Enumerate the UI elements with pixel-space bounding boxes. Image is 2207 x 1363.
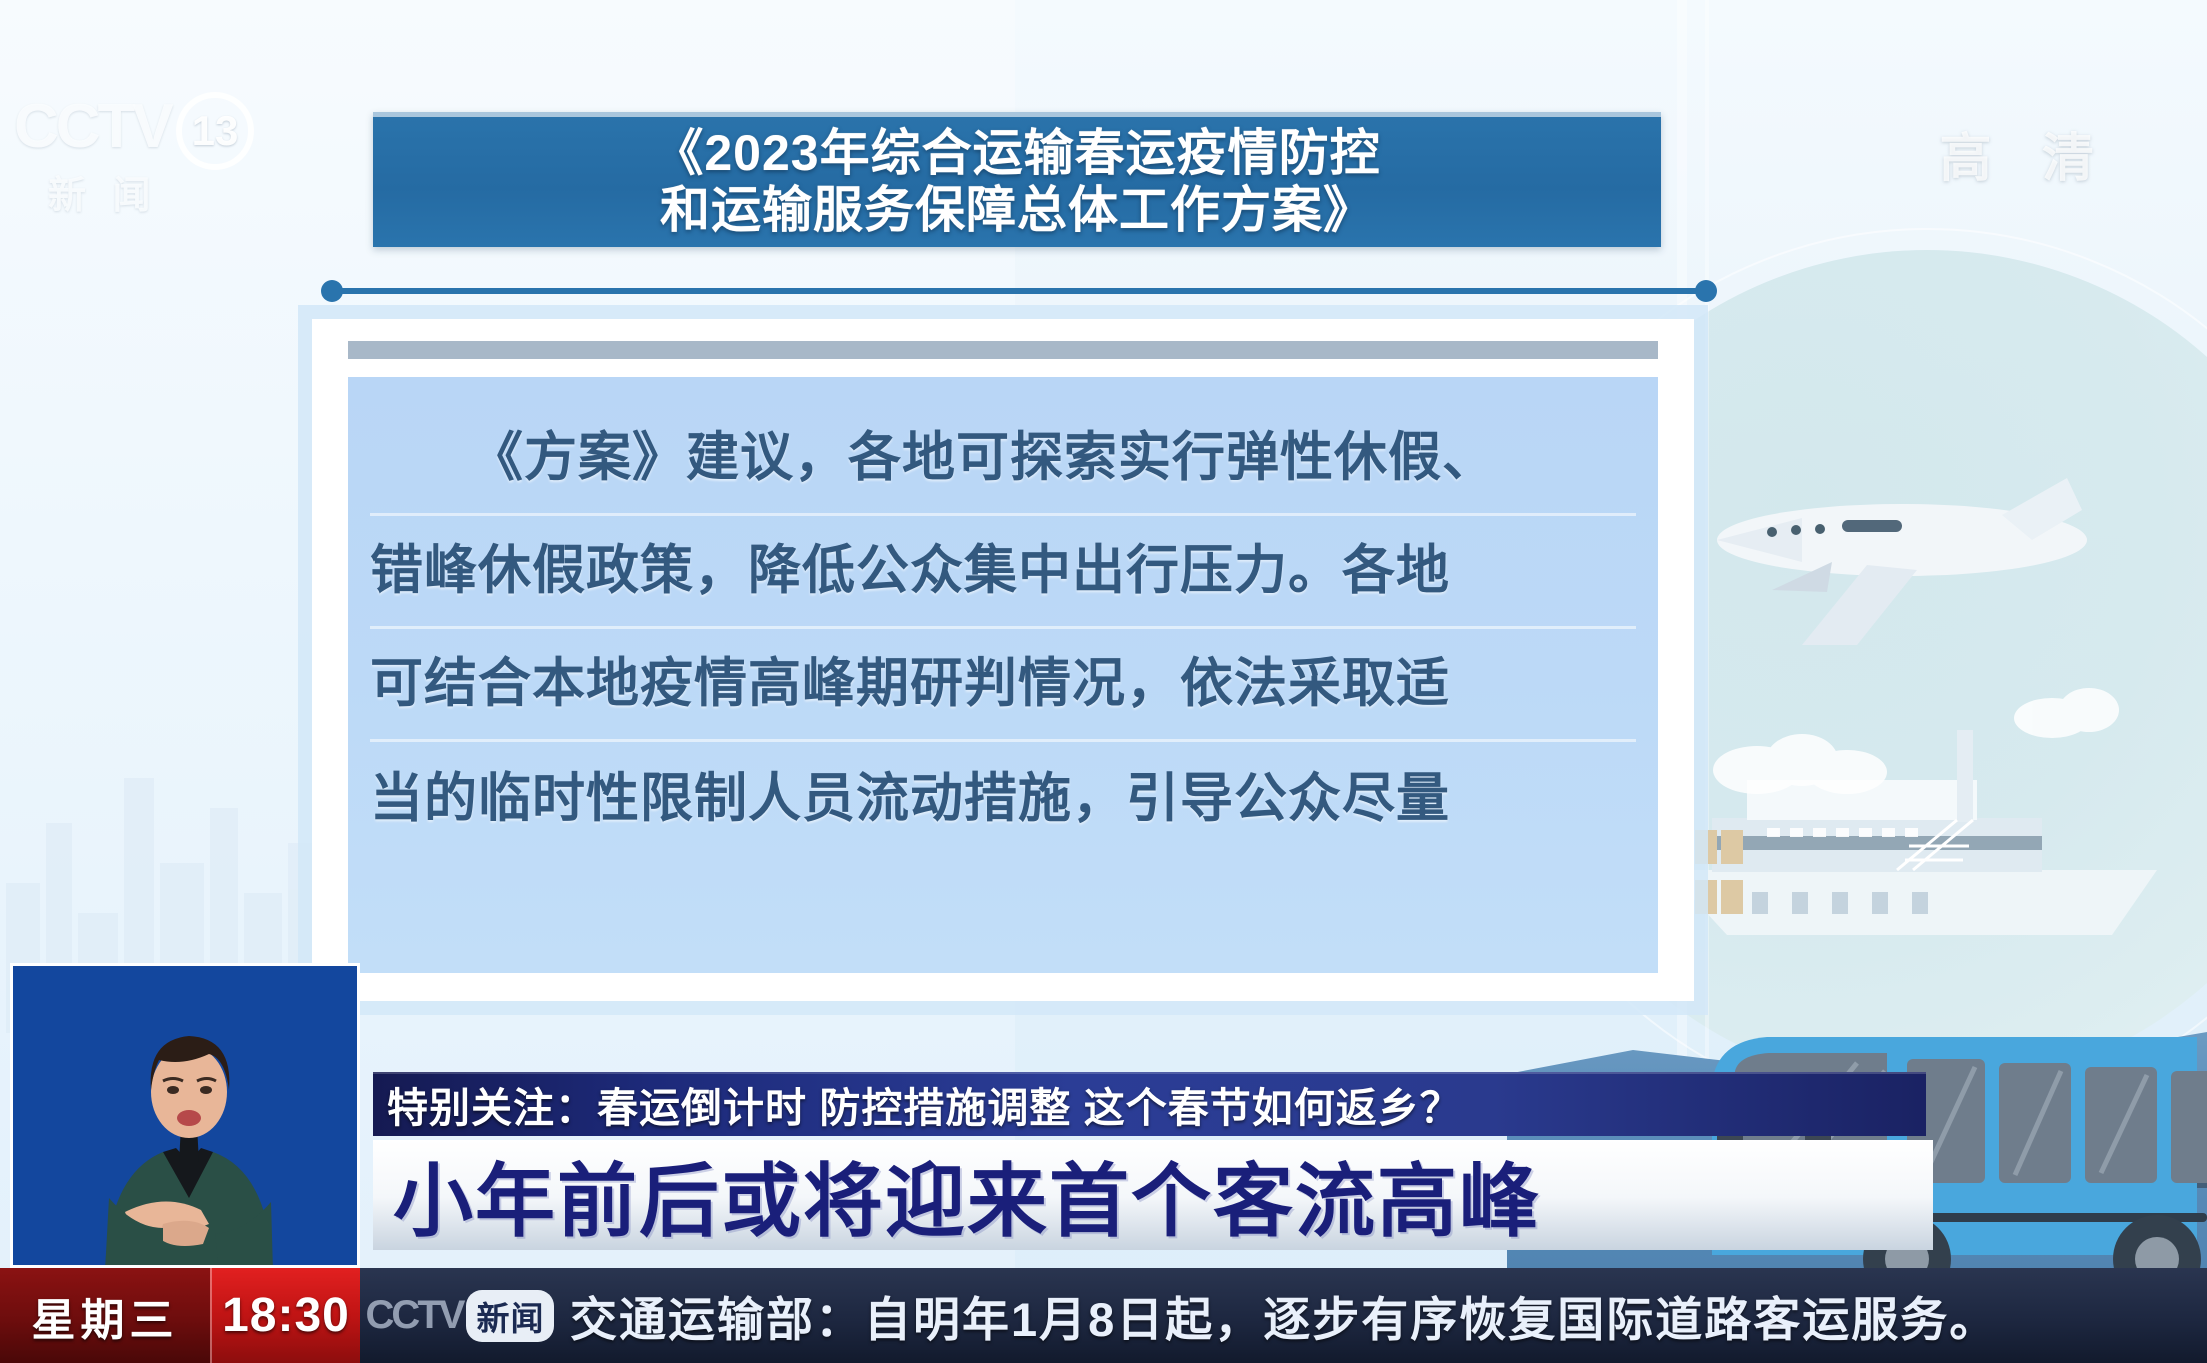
ticker-text-area: 交通运输部：自明年1月8日起，逐步有序恢复国际道路客运服务。 <box>560 1268 2207 1363</box>
document-title-line-2: 和运输服务保障总体工作方案》 <box>660 182 1374 240</box>
connector-dot-left <box>321 280 343 302</box>
connector-dot-right <box>1695 280 1717 302</box>
document-title-line-1: 《2023年综合运输春运疫情防控 <box>653 125 1380 183</box>
topic-strip-text: 特别关注：春运倒计时 防控措施调整 这个春节如何返乡？ <box>387 1074 1462 1134</box>
interpreter-figure <box>13 966 360 1268</box>
content-card-inner: 《方案》建议，各地可探索实行弹性休假、 错峰休假政策，降低公众集中出行压力。各地… <box>312 319 1694 1001</box>
topic-strip: 特别关注：春运倒计时 防控措施调整 这个春节如何返乡？ <box>373 1072 1926 1136</box>
ticker-headline-text: 交通运输部：自明年1月8日起，逐步有序恢复国际道路客运服务。 <box>570 1281 1998 1350</box>
ticker-cctv-text: CCTV <box>366 1293 463 1338</box>
ticker-news-badge: 新闻 <box>466 1290 554 1342</box>
banner-connector-bar <box>332 288 1706 294</box>
body-text-line: 可结合本地疫情高峰期研判情况，依法采取适 <box>370 629 1636 742</box>
headline-bar: 小年前后或将迎来首个客流高峰 <box>373 1140 1933 1250</box>
cctv-channel-number: 13 <box>176 92 254 170</box>
ticker-time-box: 18:30 <box>210 1268 360 1363</box>
news-ticker: 星期三 18:30 CCTV 新闻 交通运输部：自明年1月8日起，逐步有序恢复国… <box>0 1268 2207 1363</box>
card-divider-bar <box>348 341 1658 359</box>
cruise-ship-graphic <box>1657 660 2177 950</box>
content-card-outer: 《方案》建议，各地可探索实行弹性休假、 错峰休假政策，降低公众集中出行压力。各地… <box>298 305 1708 1015</box>
ticker-weekday: 星期三 <box>32 1284 179 1348</box>
body-text-line: 《方案》建议，各地可探索实行弹性休假、 <box>370 403 1636 516</box>
body-text-line: 当的临时性限制人员流动措施，引导公众尽量 <box>370 742 1636 855</box>
headline-text: 小年前后或将迎来首个客流高峰 <box>393 1137 1541 1253</box>
document-title-banner: 《2023年综合运输春运疫情防控 和运输服务保障总体工作方案》 <box>373 112 1661 247</box>
ticker-channel-logo: CCTV 新闻 <box>360 1268 560 1363</box>
hd-watermark: 高 清 <box>1940 116 2112 191</box>
ticker-weekday-box: 星期三 <box>0 1268 210 1363</box>
sign-language-interpreter-box <box>10 963 360 1268</box>
broadcast-screen: CCTV 新 闻 13 高 清 《2023年综合运输春运疫情防控 和运输服务保障… <box>0 0 2207 1363</box>
ticker-time: 18:30 <box>222 1288 350 1343</box>
body-text-panel: 《方案》建议，各地可探索实行弹性休假、 错峰休假政策，降低公众集中出行压力。各地… <box>348 377 1658 973</box>
body-text-line: 错峰休假政策，降低公众集中出行压力。各地 <box>370 516 1636 629</box>
